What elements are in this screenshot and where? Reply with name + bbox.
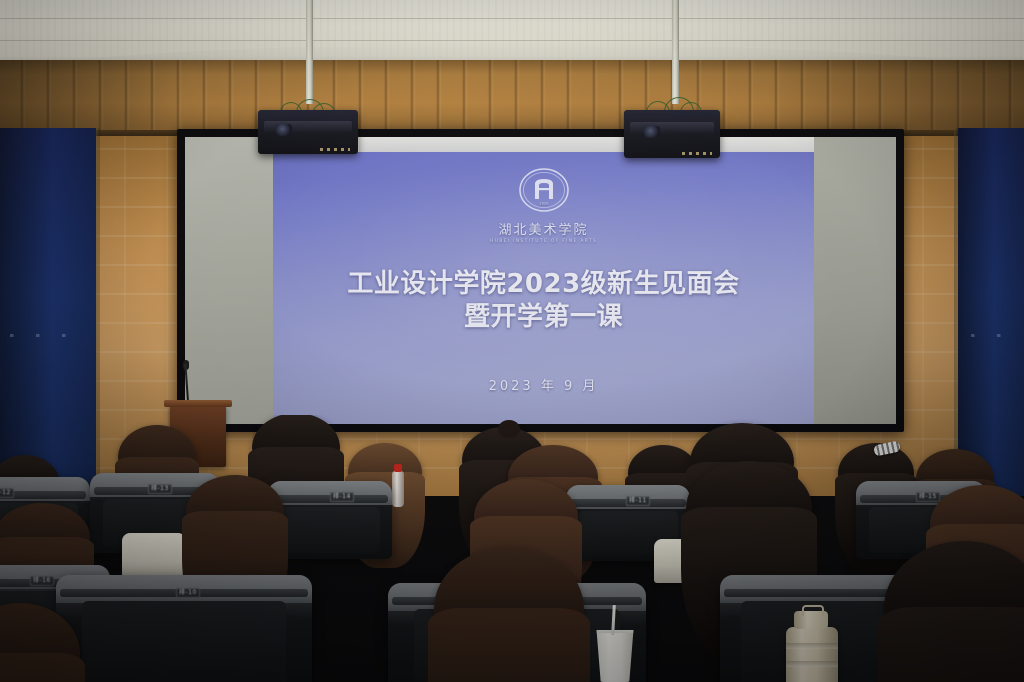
slide-title: 工业设计学院2023级新生见面会 暨开学第一课 bbox=[347, 268, 739, 335]
auditorium-seat[interactable]: 排-10 bbox=[56, 575, 312, 682]
university-name-cn: 湖北美术学院 bbox=[498, 219, 588, 238]
seat-number-label: 排-13 bbox=[148, 484, 172, 494]
projector-vents bbox=[320, 148, 350, 151]
thermos-flask[interactable] bbox=[786, 627, 838, 682]
projector-lens bbox=[276, 124, 292, 136]
upper-wood-wall bbox=[0, 60, 1024, 138]
lectern-top-surface bbox=[164, 400, 232, 407]
seat-backrest bbox=[280, 507, 379, 553]
projector-vents bbox=[682, 152, 712, 155]
folding-tray-table[interactable] bbox=[122, 533, 186, 579]
panel-markings bbox=[971, 334, 1016, 337]
water-bottle bbox=[392, 471, 404, 507]
audience-head bbox=[474, 479, 578, 547]
thermos-ring bbox=[786, 661, 838, 667]
slide-title-line2: 暨开学第一课 bbox=[347, 301, 739, 334]
bottle-cap bbox=[394, 464, 402, 472]
panel-markings bbox=[10, 334, 72, 337]
seat-number-label: 排-11 bbox=[626, 496, 650, 506]
svg-text:1920: 1920 bbox=[539, 202, 549, 206]
projected-slide: 学 / 编辑 / 放映 1920 bbox=[273, 137, 814, 424]
audience-seating-area: 排-12 排-13 排-14 排-11 排-15 bbox=[0, 415, 1024, 682]
ceiling-seam bbox=[0, 18, 1024, 19]
audience-head bbox=[186, 475, 284, 541]
hair-bun bbox=[498, 420, 520, 438]
ceiling-projector-left bbox=[258, 110, 358, 154]
projection-screen-frame: 学 / 编辑 / 放映 1920 bbox=[177, 129, 904, 432]
seat-number-label: 排-14 bbox=[330, 492, 354, 502]
thermos-ring bbox=[786, 643, 838, 649]
ceiling-seam bbox=[0, 40, 1024, 41]
slide-title-line1: 工业设计学院2023级新生见面会 bbox=[347, 269, 739, 299]
wood-wall-shading bbox=[0, 60, 1024, 138]
university-name-en: HUBEI INSTITUTE OF FINE ARTS bbox=[490, 239, 597, 244]
seat-number-label: 排-15 bbox=[916, 492, 940, 502]
university-logo: 1920 湖北美术学院 HUBEI INSTITUTE OF FINE ARTS bbox=[490, 165, 597, 244]
slide-date: 2023 年 9 月 bbox=[489, 375, 599, 394]
ceiling-projector-right bbox=[624, 110, 720, 158]
projector-body-detail bbox=[630, 122, 715, 134]
audience-head bbox=[252, 415, 340, 475]
projector-lens bbox=[644, 126, 660, 138]
ceiling bbox=[0, 0, 1024, 66]
seat-number-label: 排-12 bbox=[0, 488, 14, 498]
projector-mount-pole-left bbox=[306, 0, 313, 104]
slide-content: 1920 湖北美术学院 HUBEI INSTITUTE OF FINE ARTS… bbox=[273, 137, 814, 424]
projection-screen-surface: 学 / 编辑 / 放映 1920 bbox=[185, 137, 896, 424]
audience-head bbox=[686, 461, 812, 545]
university-seal-icon: 1920 bbox=[518, 165, 570, 217]
seat-number-label: 排-10 bbox=[176, 588, 200, 598]
thermos-handle bbox=[802, 605, 824, 616]
seat-backrest bbox=[82, 601, 287, 682]
seat-number-label: 排-16 bbox=[30, 576, 54, 586]
lecture-hall-photo: 学 / 编辑 / 放映 1920 bbox=[0, 0, 1024, 682]
drink-cup[interactable] bbox=[594, 630, 636, 682]
projector-mount-pole-right bbox=[672, 0, 679, 104]
